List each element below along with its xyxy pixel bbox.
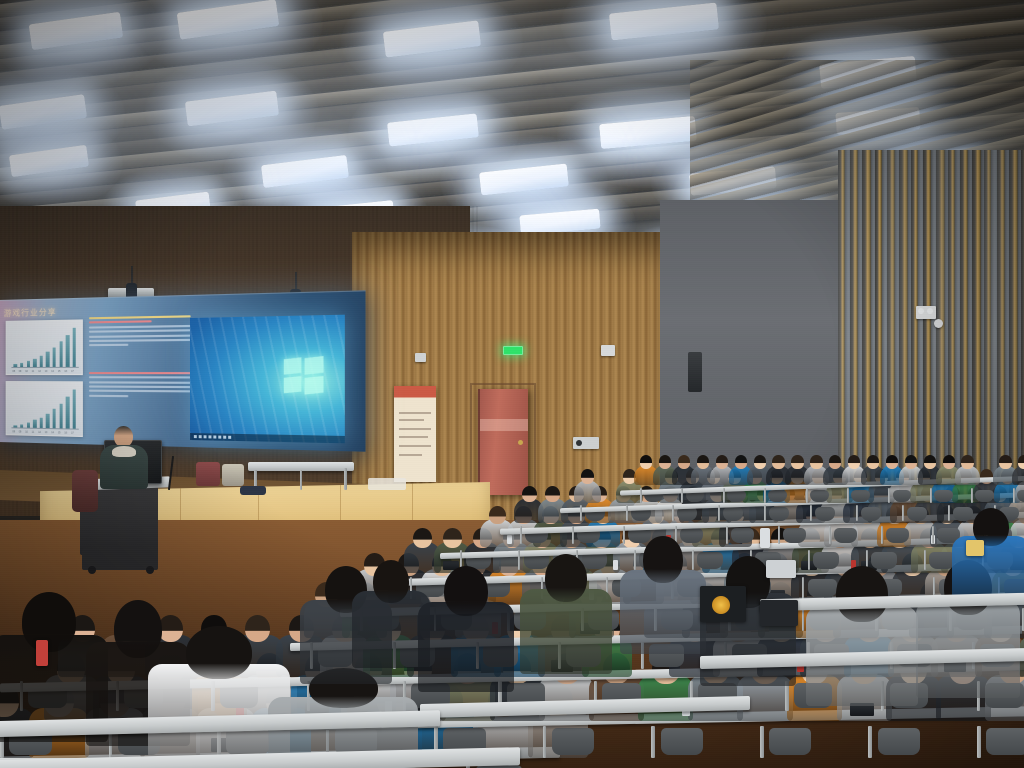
- slide-chart-bar: [33, 359, 36, 367]
- audience-head: [444, 566, 488, 616]
- slide-chart-bar: [33, 420, 36, 428]
- slide-title: 游戏行业分享: [4, 307, 57, 319]
- desk-leg: [856, 505, 858, 521]
- audience-member: [1012, 455, 1024, 489]
- lecture-chair[interactable]: [723, 507, 744, 521]
- slide-chart-bar: [14, 364, 17, 367]
- windows-logo-icon: [284, 359, 324, 395]
- desk-leg: [640, 488, 642, 503]
- desk-leg: [902, 505, 904, 521]
- audience-head: [640, 455, 652, 469]
- water-bottle: [36, 640, 48, 666]
- snack-package: [966, 540, 984, 556]
- lecture-chair[interactable]: [986, 728, 1024, 755]
- desk-item-cup: [613, 560, 618, 570]
- audience-member-foreground: [418, 566, 514, 692]
- slide-chart-bar: [27, 361, 30, 367]
- audience-head: [443, 528, 462, 548]
- slide-chart-tick: 16: [64, 370, 67, 373]
- slide-chart-bar: [20, 363, 23, 367]
- audience-head: [924, 455, 936, 469]
- slide-chart-tick: 15: [58, 370, 61, 373]
- desk-leg: [778, 526, 780, 544]
- desk-leg: [971, 488, 973, 503]
- lecture-chair[interactable]: [810, 490, 829, 503]
- desk-leg: [847, 488, 849, 503]
- audience-member: [574, 469, 601, 506]
- slide-chart-bar: [53, 409, 56, 429]
- slide-chart-bar: [20, 424, 23, 428]
- desk-leg: [718, 505, 720, 521]
- desk-leg: [572, 526, 574, 544]
- desk-leg: [764, 488, 766, 503]
- desk-leg: [764, 505, 766, 521]
- notebook: [766, 560, 796, 578]
- audience-member-foreground: [620, 536, 706, 654]
- audience-head: [545, 554, 587, 602]
- audience-head: [836, 566, 888, 622]
- slide-chart-bar: [59, 403, 62, 428]
- tablet-device: [760, 600, 798, 626]
- desk-leg: [932, 526, 934, 544]
- audience-head: [961, 455, 973, 469]
- slide-chart-tick: 09: [19, 370, 22, 373]
- slide-chart-tick: 11: [32, 370, 34, 373]
- restroom-sign: [415, 353, 426, 362]
- slide-chart-bar: [59, 342, 62, 367]
- audience-head: [186, 626, 251, 679]
- audience-head: [545, 486, 560, 503]
- desk-leg: [723, 488, 725, 503]
- slide-chart-bar: [46, 413, 49, 428]
- slide-chart-bar: [53, 347, 56, 367]
- audience-member: [955, 455, 980, 489]
- slide-chart-bar: [14, 425, 17, 427]
- slide-chart-tick: 10: [25, 370, 28, 373]
- exit-sign: [503, 346, 523, 355]
- desk-leg: [626, 505, 628, 521]
- desk-leg: [829, 526, 831, 544]
- desk-leg: [930, 488, 932, 503]
- slide-chart-bar: [73, 390, 76, 429]
- lecture-chair[interactable]: [886, 528, 909, 543]
- seated-audience: [0, 430, 1024, 768]
- slide-chart-bar: [66, 335, 69, 366]
- slide-chart-tick: 12: [38, 370, 41, 373]
- audience-member-foreground: [952, 508, 1024, 604]
- drink-cup-on-desk: [760, 528, 770, 548]
- desk-leg: [726, 526, 728, 544]
- desk-leg: [580, 505, 582, 521]
- desk-leg: [806, 488, 808, 503]
- audience-head: [772, 455, 784, 469]
- lecture-hall-photo: 游戏行业分享 08091011121314151617 080910111213…: [0, 0, 1024, 768]
- audience-head: [848, 455, 860, 469]
- desk-item-cup: [507, 535, 511, 544]
- desk-leg: [543, 726, 547, 758]
- lecture-chair[interactable]: [878, 728, 920, 755]
- audience-head: [659, 455, 671, 469]
- slide-chart-bar: [40, 356, 43, 367]
- lecture-chair[interactable]: [731, 528, 754, 543]
- audience-head: [905, 455, 917, 469]
- audience-head: [522, 486, 537, 503]
- slide-chart-tick: 17: [71, 370, 74, 373]
- desk-leg: [651, 726, 655, 758]
- audience-head: [999, 455, 1011, 469]
- audience-head: [678, 455, 690, 469]
- slide-chart-tick: 13: [45, 370, 48, 373]
- desk-leg: [520, 526, 522, 544]
- lecture-chair[interactable]: [861, 507, 882, 521]
- lecture-chair[interactable]: [552, 728, 594, 755]
- lecture-chair[interactable]: [934, 490, 953, 503]
- audience-head: [373, 560, 409, 603]
- desk-leg: [810, 505, 812, 521]
- lecture-chair[interactable]: [834, 528, 857, 543]
- backpack-gold-graphic: [712, 596, 730, 614]
- audience-head: [413, 528, 432, 548]
- audience-head: [22, 592, 76, 652]
- wall-speaker: [688, 352, 702, 392]
- desk-leg: [802, 608, 805, 632]
- audience-head: [791, 455, 803, 469]
- desk-leg: [760, 726, 764, 758]
- audience-head: [754, 455, 766, 469]
- slide-body-text: [89, 315, 191, 400]
- desk-leg: [881, 526, 883, 544]
- audience-head: [1018, 455, 1024, 469]
- audience-head: [735, 455, 747, 469]
- audience-head: [697, 455, 709, 469]
- slide-chart-bar: [27, 422, 30, 427]
- audience-member-grey-hoodie: [806, 566, 918, 706]
- lecture-chair[interactable]: [661, 728, 703, 755]
- desk-leg: [948, 505, 950, 521]
- slide-chart-bar: [66, 397, 69, 428]
- wall-outlet-panel: [601, 345, 615, 356]
- lecture-chair[interactable]: [851, 490, 870, 503]
- windows-desktop-projection: [190, 315, 345, 444]
- slide-chart-lower: 08091011121314151617: [6, 381, 83, 437]
- audience-head: [581, 469, 595, 484]
- audience-head: [943, 455, 955, 469]
- desk-leg: [868, 726, 872, 758]
- audience-head: [867, 455, 879, 469]
- door-light-band: [480, 419, 528, 431]
- audience-head: [810, 455, 822, 469]
- audience-head: [886, 455, 898, 469]
- lecture-chair[interactable]: [769, 728, 811, 755]
- security-camera-dome: [934, 319, 943, 328]
- lecture-chair[interactable]: [769, 507, 790, 521]
- lecture-chair[interactable]: [783, 528, 806, 543]
- audience-head: [489, 506, 506, 524]
- slide-chart-upper: 08091011121314151617: [6, 319, 83, 375]
- audience-head: [643, 536, 683, 583]
- lecture-chair[interactable]: [815, 507, 836, 521]
- desk-leg: [977, 726, 981, 758]
- lecture-chair[interactable]: [907, 507, 928, 521]
- slide-chart-bar: [46, 352, 49, 367]
- desk-leg: [1013, 488, 1015, 503]
- slide-chart-tick: 14: [51, 370, 54, 373]
- audience-head: [716, 455, 728, 469]
- audience-member-foreground: [520, 554, 612, 674]
- audience-head: [829, 455, 841, 469]
- lecture-chair[interactable]: [727, 490, 746, 503]
- emergency-light: [916, 306, 936, 319]
- desk-leg: [672, 505, 674, 521]
- slide-chart-tick: 08: [12, 370, 15, 373]
- slide-chart-bar: [73, 328, 76, 367]
- slide-chart-bar: [40, 417, 43, 428]
- desk-leg: [802, 577, 804, 599]
